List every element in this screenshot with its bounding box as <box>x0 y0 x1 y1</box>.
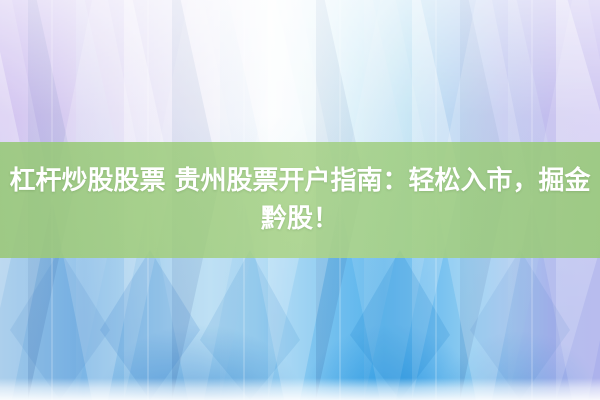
page-title: 杠杆炒股股票 贵州股票开户指南：轻松入市，掘金黔股！ <box>6 162 594 238</box>
headline-band: 杠杆炒股股票 贵州股票开户指南：轻松入市，掘金黔股！ <box>0 142 600 258</box>
promo-banner: 杠杆炒股股票 贵州股票开户指南：轻松入市，掘金黔股！ <box>0 0 600 400</box>
bottom-white-fade <box>0 378 600 400</box>
